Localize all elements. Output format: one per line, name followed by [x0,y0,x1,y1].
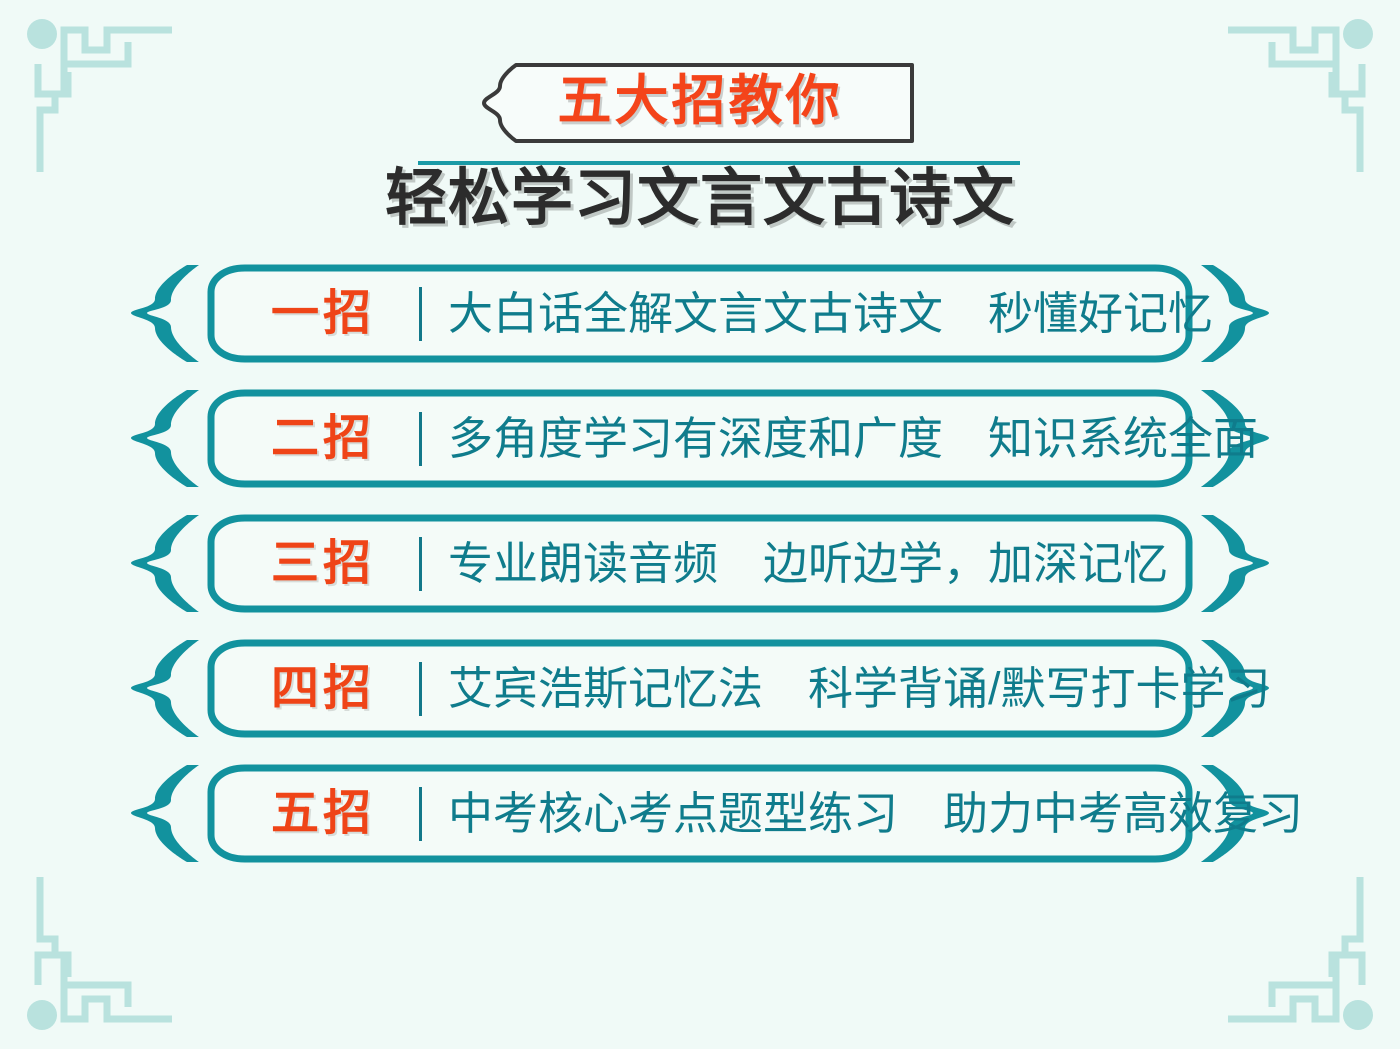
banner-plaque: 五大招教你 [474,62,926,144]
row-badge: 二招 [233,415,413,463]
row-separator [419,537,422,591]
row-separator [419,662,422,716]
list-item[interactable]: 二招 多角度学习有深度和广度 知识系统全面 [127,387,1273,490]
row-badge: 三招 [233,540,413,588]
row-description: 艾宾浩斯记忆法 科学背诵/默写打卡学习 [448,666,1271,711]
row-description: 大白话全解文言文古诗文 秒懂好记忆 [448,291,1213,336]
row-description: 中考核心考点题型练习 助力中考高效复习 [448,791,1303,836]
row-separator [419,787,422,841]
row-badge: 五招 [233,790,413,838]
page-subtitle: 轻松学习文言文古诗文 [0,168,1400,230]
row-description: 多角度学习有深度和广度 知识系统全面 [448,416,1258,461]
list-item[interactable]: 三招 专业朗读音频 边听边学，加深记忆 [127,512,1273,615]
row-separator [419,287,422,341]
row-description: 专业朗读音频 边听边学，加深记忆 [448,541,1168,586]
list-item[interactable]: 一招 大白话全解文言文古诗文 秒懂好记忆 [127,262,1273,365]
row-badge: 四招 [233,665,413,713]
corner-ornament-bottom-right [1228,877,1398,1047]
list-item[interactable]: 四招 艾宾浩斯记忆法 科学背诵/默写打卡学习 [127,637,1273,740]
banner-title: 五大招教你 [474,62,926,144]
page-header: 五大招教你 轻松学习文言文古诗文 [0,0,1400,250]
row-badge: 一招 [233,290,413,338]
corner-ornament-bottom-left [2,877,172,1047]
row-separator [419,412,422,466]
list-item[interactable]: 五招 中考核心考点题型练习 助力中考高效复习 [127,762,1273,865]
tips-list: 一招 大白话全解文言文古诗文 秒懂好记忆 二招 多角度学习有深度和广度 知识系统… [0,262,1400,887]
